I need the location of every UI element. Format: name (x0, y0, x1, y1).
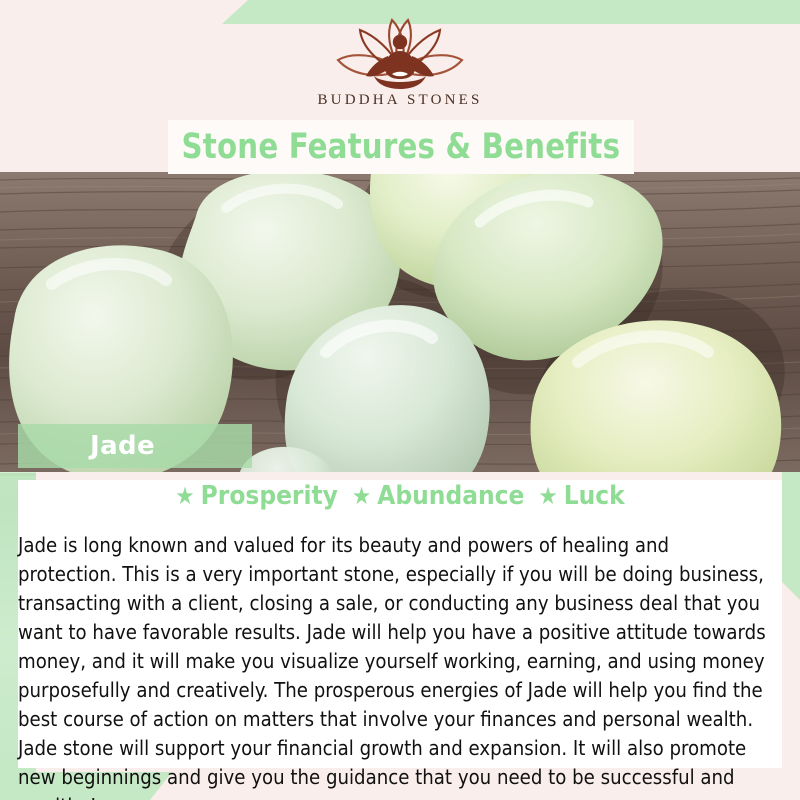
star-icon: ★ (352, 484, 371, 508)
benefits-row: ★ Prosperity ★ Abundance ★ Luck (0, 480, 800, 512)
benefit-label: Prosperity (201, 481, 338, 511)
brand-logo: BUDDHA STONES (0, 16, 800, 120)
description-paragraph: Jade is long known and valued for its be… (18, 531, 773, 800)
star-icon: ★ (175, 484, 194, 508)
benefit-abundance: ★ Abundance (352, 481, 524, 511)
benefit-prosperity: ★ Prosperity (175, 481, 338, 511)
stone-name-label: Jade (18, 431, 155, 461)
benefit-luck: ★ Luck (538, 481, 624, 511)
star-icon: ★ (538, 484, 557, 508)
section-title-banner: Stone Features & Benefits (168, 120, 634, 174)
lotus-meditation-icon (322, 16, 478, 90)
benefit-label: Luck (564, 481, 625, 511)
stone-name-bar: Jade (18, 424, 252, 468)
page-title: Stone Features & Benefits (182, 127, 621, 167)
benefit-label: Abundance (377, 481, 524, 511)
poster-canvas: Jade ★ Prosperity ★ Abundance ★ Luck Jad… (0, 0, 800, 800)
brand-wordmark: BUDDHA STONES (317, 92, 482, 109)
